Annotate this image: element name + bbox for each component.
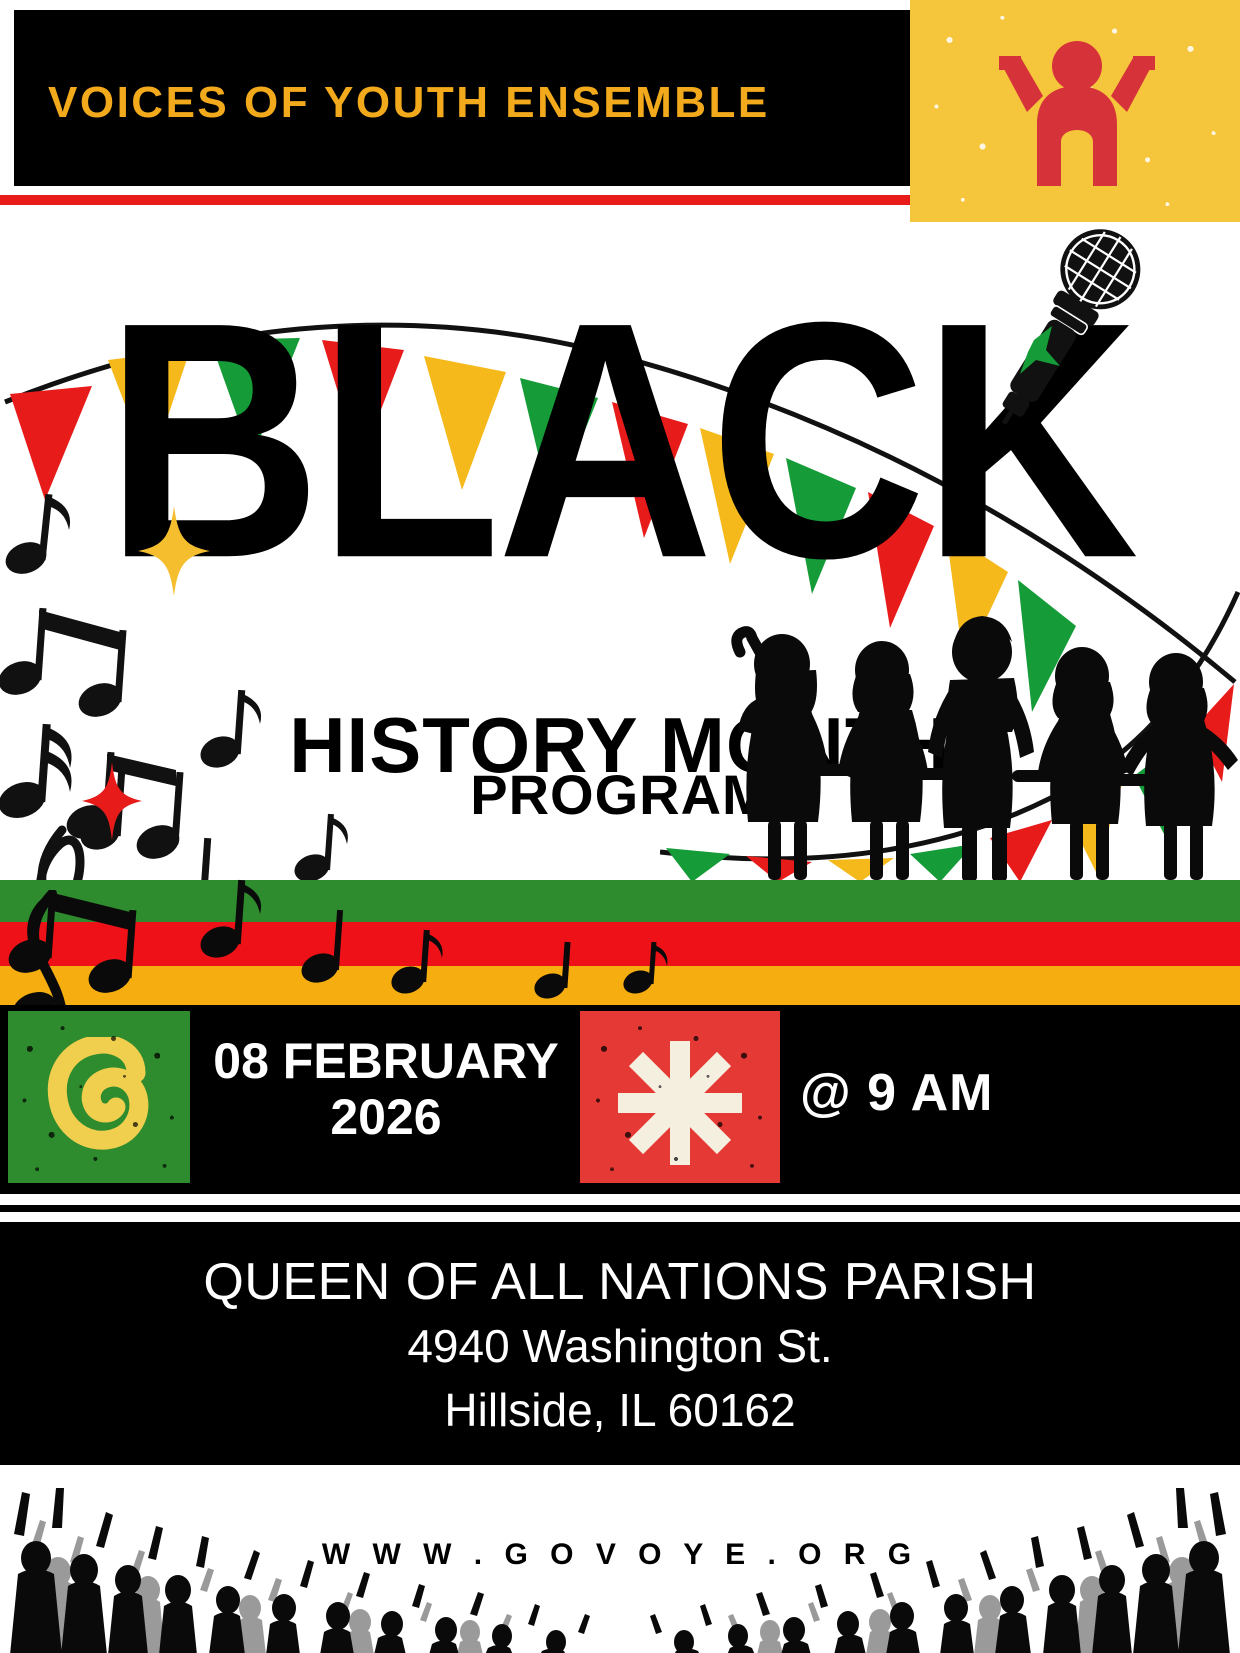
- flyer-footer: W W W . G O V O Y E . O R G: [0, 1462, 1240, 1653]
- logo-tile: [910, 0, 1240, 222]
- children-holding-hands-icon: [710, 602, 1240, 880]
- event-details-band: 08 FEBRUARY 2026 @ 9 AM: [0, 1005, 1240, 1190]
- flyer-header: VOICES OF YOUTH ENSEMBLE: [0, 0, 1240, 222]
- venue-street: 4940 Washington St.: [0, 1319, 1240, 1373]
- event-date-line2: 2026: [206, 1089, 566, 1145]
- asterisk-star-icon: [610, 1033, 750, 1173]
- section-divider: [0, 1190, 1240, 1224]
- footer-rule: [0, 1462, 1240, 1465]
- microphone-icon: [990, 222, 1170, 452]
- event-time: @ 9 AM: [800, 1063, 1180, 1123]
- event-date: 08 FEBRUARY 2026: [206, 1033, 566, 1145]
- organization-name: VOICES OF YOUTH ENSEMBLE: [48, 78, 770, 128]
- venue-city: Hillside, IL 60162: [0, 1383, 1240, 1437]
- event-date-line1: 08 FEBRUARY: [213, 1033, 558, 1089]
- spiral-tile: [8, 1011, 190, 1183]
- color-stripe-band: [0, 880, 1240, 1005]
- hero-stage: BLACK: [0, 222, 1240, 880]
- venue-name: QUEEN OF ALL NATIONS PARISH: [0, 1252, 1240, 1312]
- divider-line-1: [0, 1194, 1240, 1205]
- website-url[interactable]: W W W . G O V O Y E . O R G: [0, 1538, 1240, 1572]
- spiral-adinkra-icon: [44, 1037, 154, 1157]
- asterisk-tile: [580, 1011, 780, 1183]
- raised-arms-person-icon: [985, 38, 1170, 188]
- header-accent-line: [0, 195, 912, 205]
- venue-block: QUEEN OF ALL NATIONS PARISH 4940 Washing…: [0, 1224, 1240, 1462]
- divider-line-2: [0, 1212, 1240, 1222]
- sparkle-yellow-icon: [138, 506, 210, 596]
- treble-clef-stripe-icon: [0, 890, 124, 1020]
